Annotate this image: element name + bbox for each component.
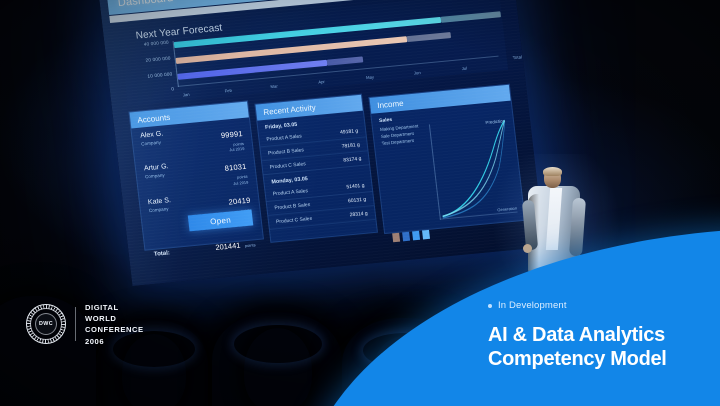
income-swatches [392, 230, 430, 242]
activity-label: Product A Sales [266, 133, 302, 142]
activity-value: 51401 g [346, 182, 365, 190]
activity-label: Product C Sales [276, 215, 313, 224]
account-value: 20419 [228, 195, 251, 206]
x-tick: May [366, 74, 374, 80]
conference-logo: DWC DIGITAL WORLD CONFERENCE 2006 [26, 302, 144, 347]
account-company: Company [145, 172, 170, 179]
logo-line-3: CONFERENCE [85, 324, 144, 335]
logo-wordmark: DIGITAL WORLD CONFERENCE 2006 [85, 302, 144, 347]
swatch [392, 233, 400, 243]
page-title: AI & Data Analytics Competency Model [488, 323, 714, 371]
swatch [422, 230, 430, 240]
activity-label: Product B Sales [274, 201, 310, 210]
x-tick: Jun [414, 70, 421, 76]
swatch [402, 232, 410, 242]
activity-value: 78181 g [341, 142, 360, 150]
account-company: Company [141, 139, 164, 146]
income-line-chart [429, 117, 518, 220]
x-tick: Jul [461, 66, 467, 71]
accounts-total-value: 201441 [215, 241, 241, 252]
open-button-label: Open [210, 215, 232, 226]
account-value: 81031 [224, 162, 247, 173]
accounts-panel: Accounts Alex G. Company 99991 points Ju… [128, 100, 264, 250]
slide-title-block: In Development AI & Data Analytics Compe… [488, 300, 714, 371]
x-tick: Mar [270, 84, 278, 90]
chart-y-tick-labels: 40 000 000 20 000 000 10 000 000 0 [123, 41, 176, 91]
logo-divider [75, 307, 76, 341]
activity-label: Product C Sales [269, 161, 306, 170]
income-header-label: Income [377, 98, 404, 109]
bullet-icon [488, 304, 492, 308]
seal-emblem-icon: DWC [26, 304, 66, 344]
title-line-2: Competency Model [488, 347, 714, 371]
status-badge: In Development [488, 300, 714, 311]
activity-value: 83174 g [343, 155, 362, 163]
audience-silhouette [244, 328, 312, 406]
title-line-1: AI & Data Analytics [488, 323, 714, 347]
status-label: In Development [498, 300, 567, 311]
logo-line-2: WORLD [85, 313, 144, 324]
x-tick: Apr [318, 79, 325, 85]
y-tick: 40 000 000 [144, 40, 169, 47]
chart-bar-cap [407, 32, 452, 42]
y-tick: 20 000 000 [145, 55, 170, 62]
y-tick: 10 000 000 [147, 71, 172, 78]
activity-value: 60131 g [348, 196, 367, 204]
chart-bar-cap [327, 56, 364, 65]
seal-text: DWC [39, 321, 53, 327]
accounts-total-unit: points [245, 242, 256, 248]
y-tick: 0 [171, 86, 174, 91]
income-panel: Income Sales Making Department Sale Depa… [368, 84, 525, 234]
activity-header-label: Recent Activity [263, 103, 316, 117]
chart-bar [177, 60, 327, 80]
x-tick: Feb [224, 88, 232, 94]
x-tick: Jan [183, 92, 190, 98]
presentation-slide: Dashboard Next Year Forecast 40 000 000 … [0, 0, 720, 406]
logo-line-4: 2006 [85, 336, 144, 347]
account-value: 99991 [220, 129, 243, 140]
logo-line-1: DIGITAL [85, 302, 144, 313]
activity-label: Product B Sales [268, 147, 304, 156]
accounts-header-label: Accounts [137, 112, 171, 124]
accounts-total-label: Total: [154, 250, 171, 257]
recent-activity-panel: Recent Activity Friday, 03.05 Product A … [254, 94, 378, 243]
activity-label: Product A Sales [272, 188, 308, 197]
activity-value: 49181 g [340, 128, 359, 136]
income-curves [429, 117, 518, 220]
swatch [412, 231, 420, 241]
projection-screen: Dashboard Next Year Forecast 40 000 000 … [98, 0, 545, 286]
activity-value: 28314 g [349, 210, 368, 218]
dashboard-title: Dashboard [107, 0, 174, 10]
